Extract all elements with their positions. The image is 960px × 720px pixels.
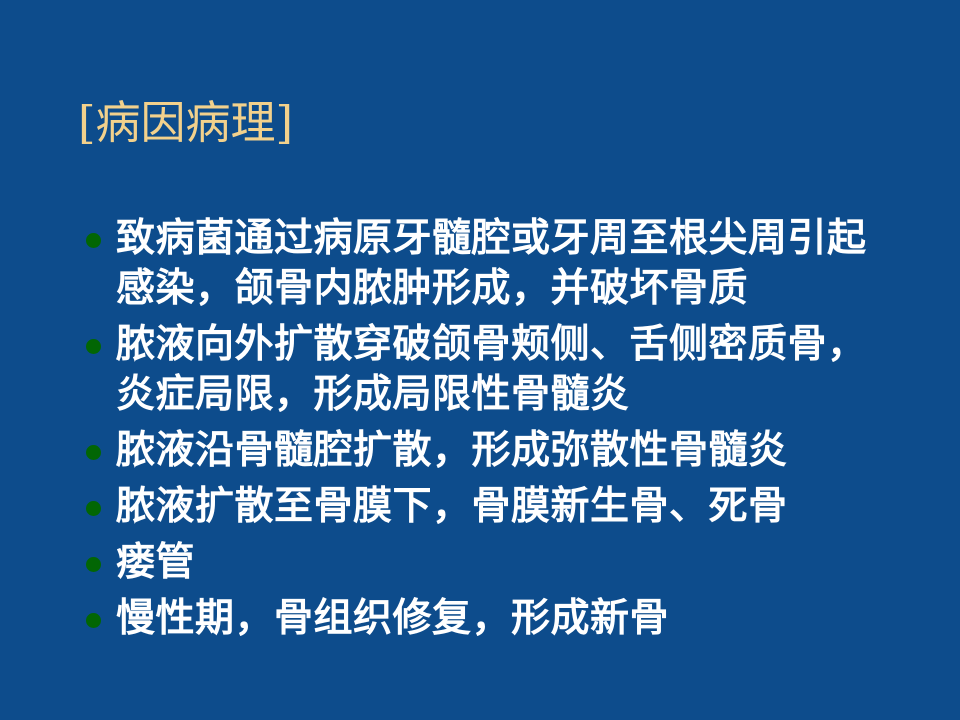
- bullet-dot-icon: [86, 445, 101, 460]
- list-item-label: 脓液沿骨髓腔扩散，形成弥散性骨髓炎: [116, 426, 890, 476]
- list-item-label: 脓液扩散至骨膜下，骨膜新生骨、死骨: [116, 482, 890, 532]
- list-item: 瘘管: [80, 538, 890, 588]
- list-item: 慢性期，骨组织修复，形成新骨: [80, 594, 890, 644]
- list-item: 脓液沿骨髓腔扩散，形成弥散性骨髓炎: [80, 426, 890, 476]
- bullet-dot-icon: [86, 557, 101, 572]
- list-item-label: 脓液向外扩散穿破颌骨颊侧、舌侧密质骨，炎症局限，形成局限性骨髓炎: [116, 320, 890, 420]
- list-item: 脓液向外扩散穿破颌骨颊侧、舌侧密质骨，炎症局限，形成局限性骨髓炎: [80, 320, 890, 420]
- bullet-dot-icon: [86, 501, 101, 516]
- list-item-label: 慢性期，骨组织修复，形成新骨: [116, 594, 890, 644]
- list-item-label: 瘘管: [116, 538, 890, 588]
- list-item: 致病菌通过病原牙髓腔或牙周至根尖周引起感染，颌骨内脓肿形成，并破坏骨质: [80, 214, 890, 314]
- bullet-dot-icon: [86, 613, 101, 628]
- bullet-list: 致病菌通过病原牙髓腔或牙周至根尖周引起感染，颌骨内脓肿形成，并破坏骨质 脓液向外…: [80, 214, 890, 650]
- list-item-label: 致病菌通过病原牙髓腔或牙周至根尖周引起感染，颌骨内脓肿形成，并破坏骨质: [116, 214, 890, 314]
- bullet-dot-icon: [86, 233, 101, 248]
- list-item: 脓液扩散至骨膜下，骨膜新生骨、死骨: [80, 482, 890, 532]
- presentation-slide: [病因病理] 致病菌通过病原牙髓腔或牙周至根尖周引起感染，颌骨内脓肿形成，并破坏…: [0, 0, 960, 720]
- bullet-dot-icon: [86, 339, 101, 354]
- page-title: [病因病理]: [78, 96, 293, 150]
